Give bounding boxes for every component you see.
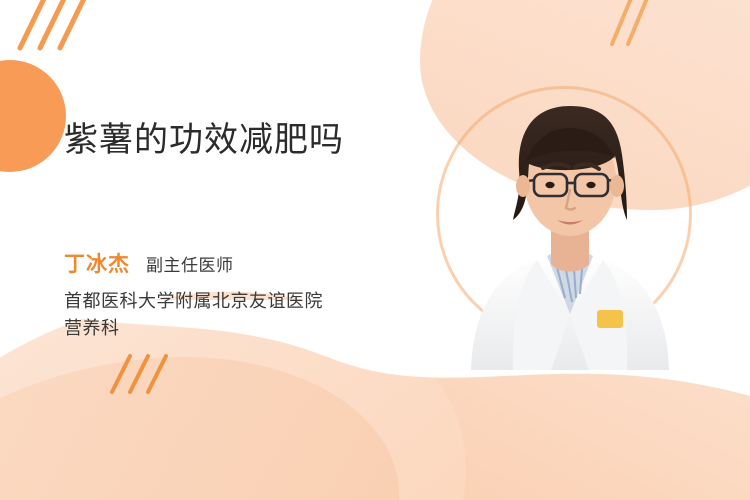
hospital-name: 首都医科大学附属北京友谊医院 <box>64 288 323 315</box>
top-right-stripes-icon <box>608 0 654 54</box>
top-left-stripes-icon <box>14 0 124 62</box>
doctor-affiliation: 首都医科大学附属北京友谊医院 营养科 <box>64 288 323 342</box>
bottom-left-stripes-icon <box>108 352 178 396</box>
doctor-role: 副主任医师 <box>146 251 234 276</box>
video-cover-card: 紫薯的功效减肥吗 丁冰杰 副主任医师 首都医科大学附属北京友谊医院 营养科 <box>0 0 750 500</box>
doctor-name: 丁冰杰 <box>64 248 130 278</box>
page-title: 紫薯的功效减肥吗 <box>64 112 344 161</box>
doctor-identity: 丁冰杰 副主任医师 <box>64 248 234 278</box>
department-name: 营养科 <box>64 315 323 342</box>
left-orange-circle-shape <box>0 60 66 172</box>
doctor-portrait <box>455 58 685 370</box>
